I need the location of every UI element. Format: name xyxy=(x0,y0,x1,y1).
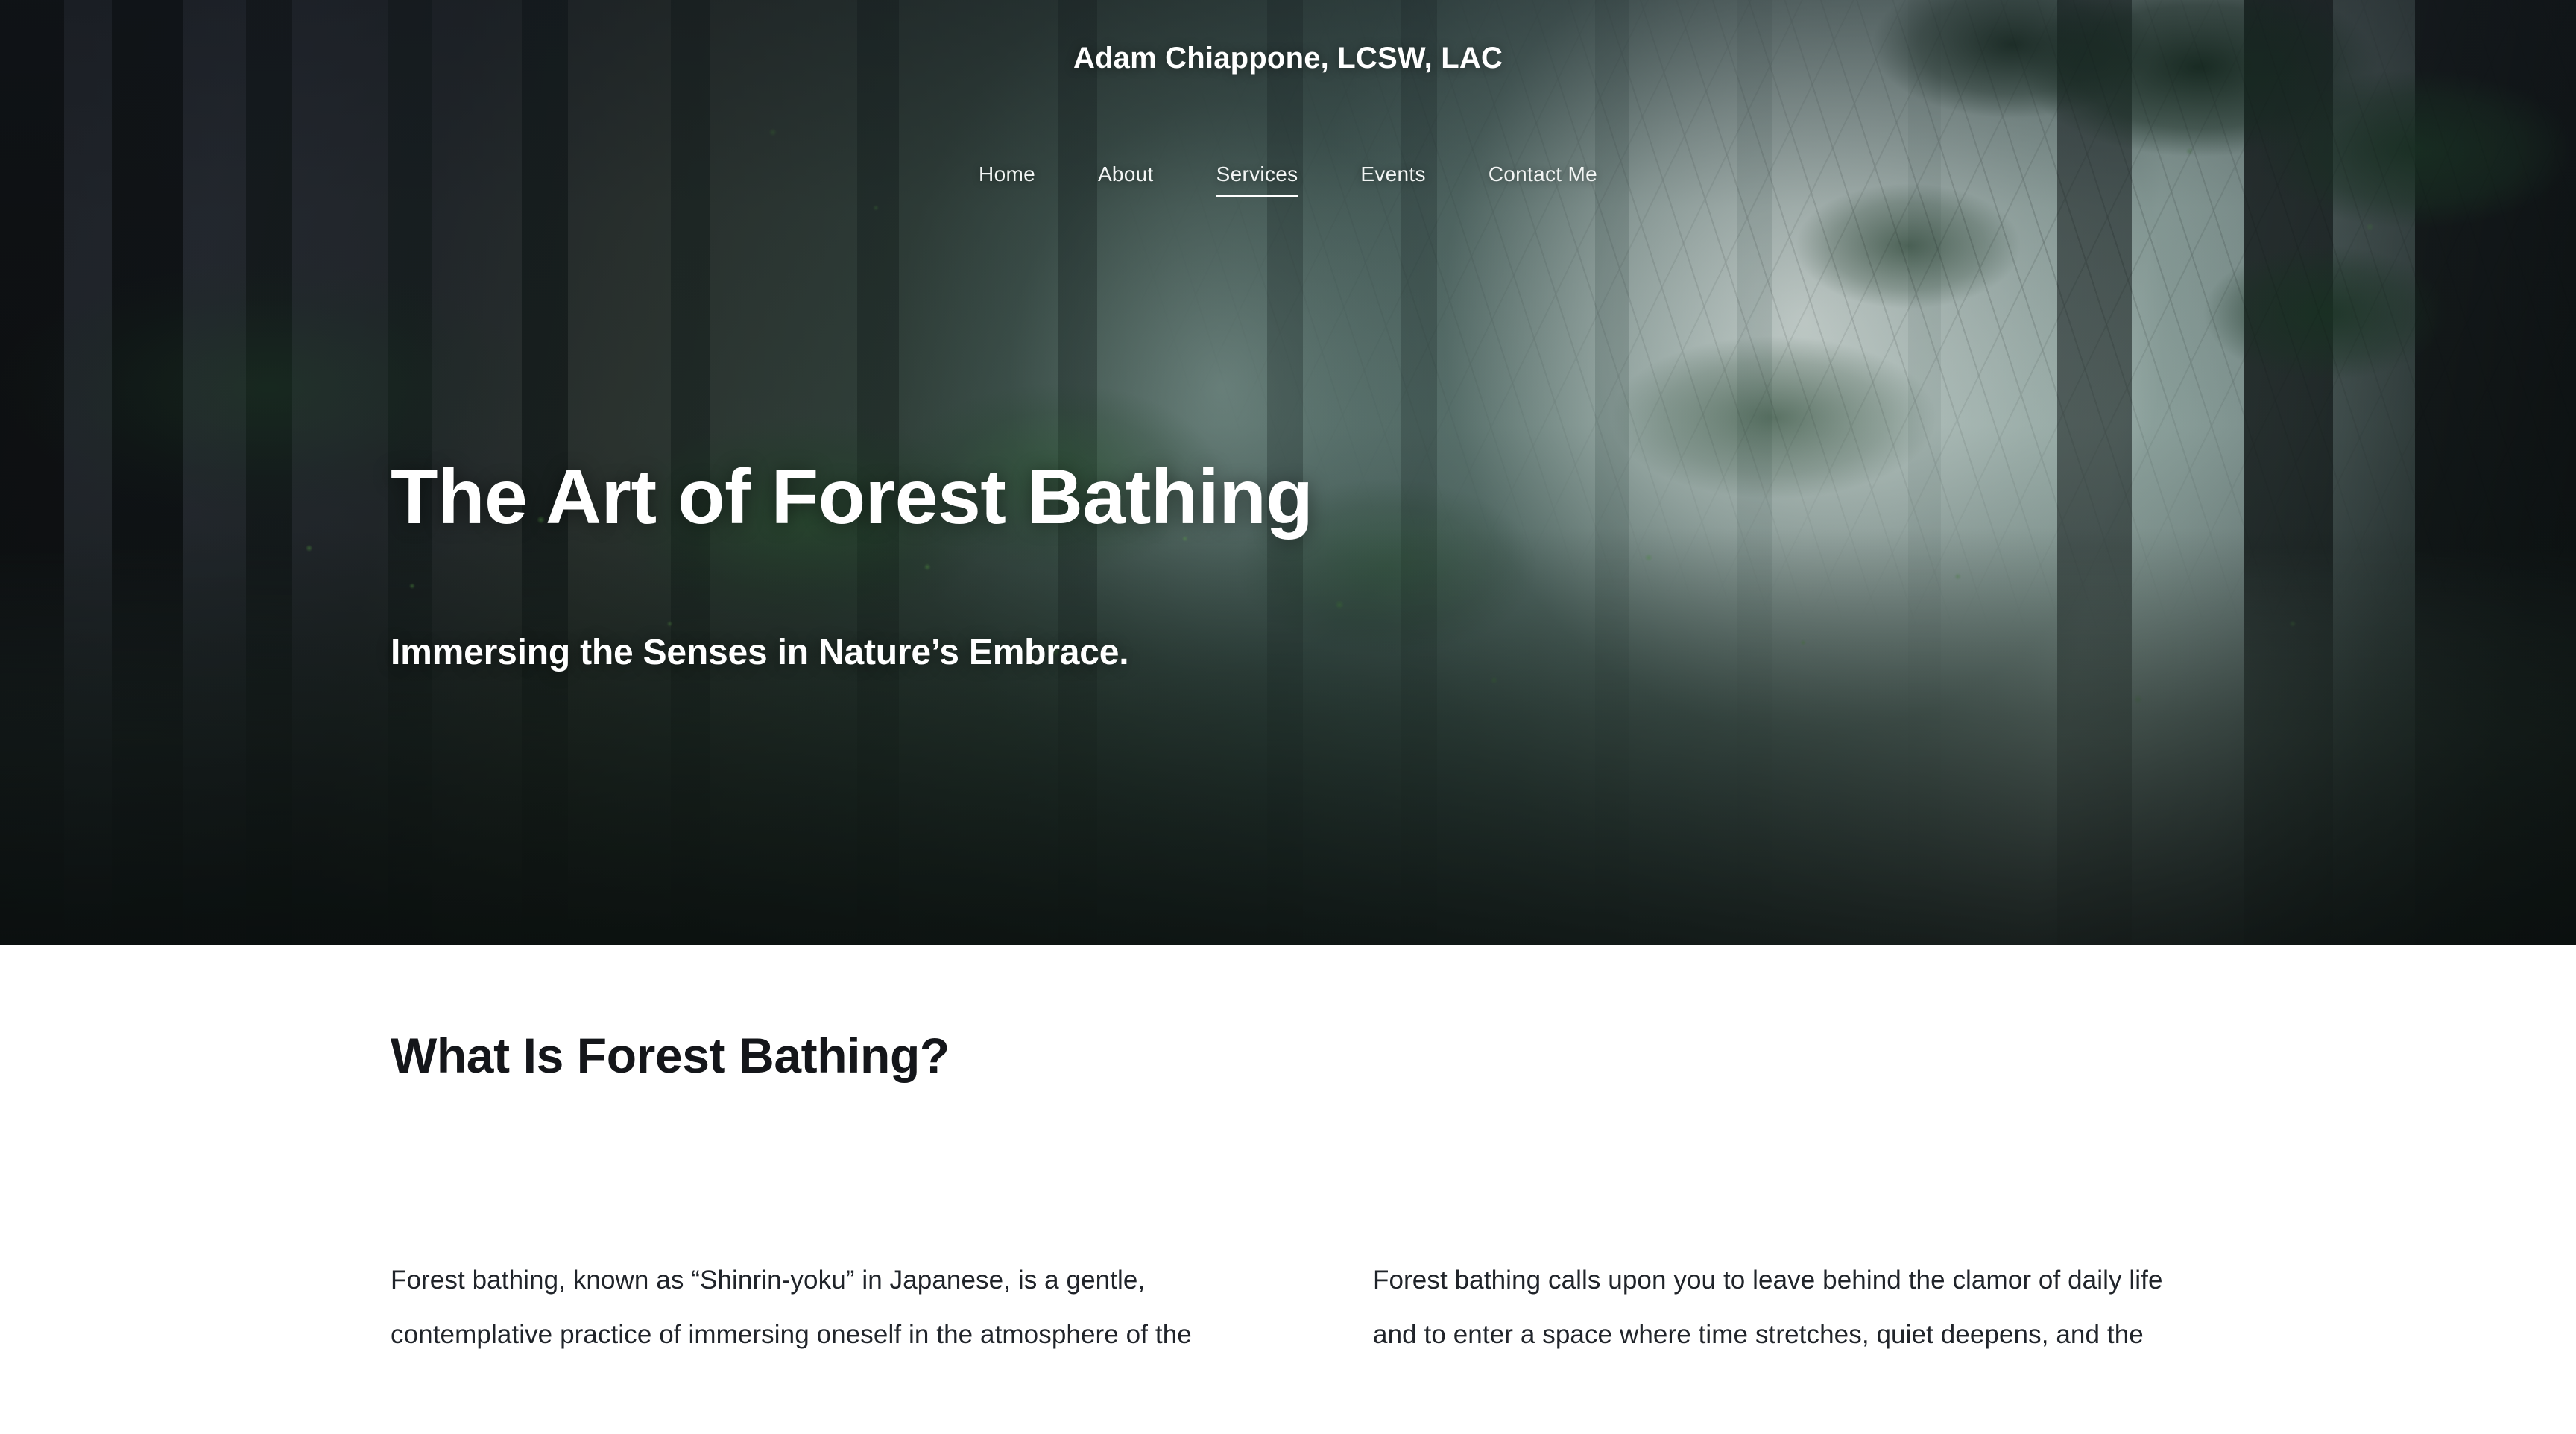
site-title: Adam Chiappone, LCSW, LAC xyxy=(0,42,2576,75)
main-content-section: What Is Forest Bathing? Forest bathing, … xyxy=(0,945,2576,1434)
hero-subheading: Immersing the Senses in Nature’s Embrace… xyxy=(391,632,1128,673)
nav-item-about[interactable]: About xyxy=(1067,162,1185,186)
nav-item-home[interactable]: Home xyxy=(947,162,1067,186)
paragraph-left: Forest bathing, known as “Shinrin-yoku” … xyxy=(391,1254,1203,1362)
main-navigation[interactable]: Home About Services Events Contact Me xyxy=(0,162,2576,186)
paragraph-right: Forest bathing calls upon you to leave b… xyxy=(1373,1254,2185,1362)
section-heading: What Is Forest Bathing? xyxy=(391,1027,950,1084)
text-column-left: Forest bathing, known as “Shinrin-yoku” … xyxy=(391,1254,1203,1362)
text-column-right: Forest bathing calls upon you to leave b… xyxy=(1373,1254,2185,1362)
hero-heading: The Art of Forest Bathing xyxy=(391,456,1313,538)
two-column-text-block: Forest bathing, known as “Shinrin-yoku” … xyxy=(391,1254,2185,1362)
hero-content: Adam Chiappone, LCSW, LAC Home About Ser… xyxy=(0,0,2576,945)
hero-section: Adam Chiappone, LCSW, LAC Home About Ser… xyxy=(0,0,2576,945)
nav-item-contact-me[interactable]: Contact Me xyxy=(1457,162,1629,186)
nav-item-events[interactable]: Events xyxy=(1329,162,1456,186)
nav-item-services[interactable]: Services xyxy=(1185,162,1330,186)
